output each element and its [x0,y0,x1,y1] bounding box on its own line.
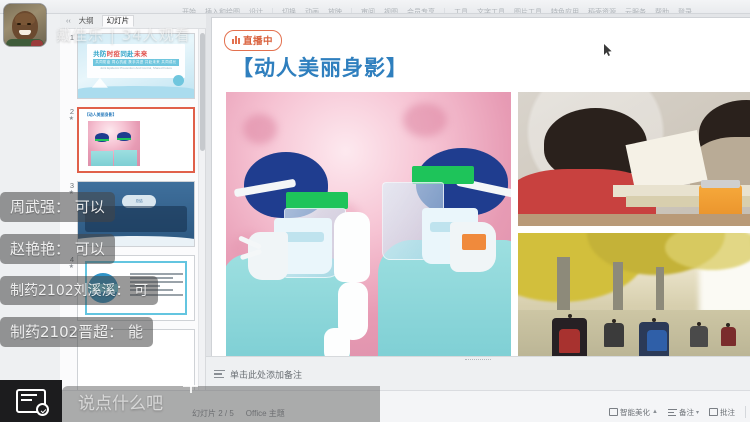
notes-toggle-label: 备注 [679,407,694,418]
thumb-photo-grid [88,121,187,166]
live-bars-icon [232,36,240,44]
crosshair-cursor-icon [183,378,198,393]
ribbon-item[interactable]: 特色应用 [551,7,579,14]
star-icon: ★ [60,116,74,123]
chevron-down-icon[interactable]: ▾ [696,409,699,416]
chat-message: 制药2102刘溪溪： 可 [0,276,158,305]
thumb-content-card: 共防时疫同赴未来 共同防疫 同心抗疫 携手共进 共赴未来 共同成长 Joint … [87,44,184,77]
chat-message-stack: 周武强： 可以 赵艳艳： 可以 制药2102刘溪溪： 可 制药2102晋超： 能 [0,192,230,359]
mouse-pointer-icon [604,44,612,56]
notes-toggle-button[interactable]: 备注 ▾ [668,407,699,418]
list-item[interactable]: 2 ★ 【动人美丽身影】 [60,103,198,177]
thumb-medical-photo [88,121,140,166]
chat-input-placeholder: 说点什么吧 [78,389,163,414]
ribbon-item[interactable]: 图片工具 [514,7,542,14]
live-streaming-screen: 开始 插入和绘图 设计 切换 动画 放映 审阅 视图 会员专享 工具 文字工具 … [0,0,750,422]
ribbon-item[interactable]: 稻壳资源 [588,7,616,14]
comment-button[interactable]: 批注 [709,407,735,418]
thumb-title: 共防时疫同赴未来 [93,48,147,58]
thumb-title: 【动人美丽身影】 [85,112,117,118]
beautify-button[interactable]: 智能美化 ▲ [609,407,658,418]
current-slide[interactable]: 直播中 【动人美丽身影】 [212,18,750,366]
live-badge-label: 直播中 [243,33,273,47]
decorative-circle [173,75,184,86]
chevron-up-icon[interactable]: ▲ [652,409,658,415]
thumb-banner-text: 共同防疫 同心抗疫 携手共进 共赴未来 共同成长 [93,59,179,66]
ribbon-toolbar[interactable]: 开始 插入和绘图 设计 切换 动画 放映 审阅 视图 会员专享 工具 文字工具 … [0,0,750,14]
decorative-shape [92,78,108,88]
decorative-wave [78,86,194,98]
ribbon-item[interactable]: 会员专享 [407,7,435,14]
ribbon-item[interactable]: 审阅 [361,7,375,14]
ribbon-item[interactable]: 登录 [678,7,692,14]
photo-side-column [518,92,750,366]
thumbnail-meta: 2 ★ [60,107,77,123]
photo-main-wrap [226,92,511,366]
comment-icon [709,408,718,416]
webcam-smile [19,30,31,35]
chat-message: 赵艳艳： 可以 [0,234,115,264]
medical-workers-photo[interactable] [226,92,511,362]
slide-thumbnail-2[interactable]: 【动人美丽身影】 [77,107,195,173]
thumb-title-part: 未来 [134,51,148,58]
thumb-title-part: 时疫 [107,51,121,58]
thumb-photo-column [142,121,187,166]
chat-message: 制药2102晋超： 能 [0,317,153,347]
chat-message: 周武强： 可以 [0,192,115,222]
ribbon-item[interactable]: 文字工具 [477,7,505,14]
beautify-label: 智能美化 [620,407,650,418]
presenter-webcam[interactable] [4,4,46,46]
webcam-shirt-accent [31,40,43,46]
page-title: 【动人美丽身影】 [232,52,408,82]
ribbon-tab-row: 开始 插入和绘图 设计 切换 动画 放映 审阅 视图 会员专享 工具 文字工具 … [0,0,750,14]
status-divider [745,406,746,418]
thumb-subtitle: Joint Epidemic Prevention And Control, S… [93,66,179,70]
ribbon-item[interactable]: 切换 [282,7,296,14]
autumn-campus-photo[interactable] [518,233,750,367]
live-watermark: 戴佳乐 | 34人观看 [56,24,191,45]
slide-photo-grid [226,92,750,366]
ribbon-item[interactable]: 工具 [454,7,468,14]
ribbon-item[interactable]: 帮助 [655,7,669,14]
ribbon-item[interactable]: 视图 [384,7,398,14]
thumb-title-part: 共防 [93,51,107,58]
status-bar-right: 智能美化 ▲ 备注 ▾ 批注 [609,406,746,418]
id-card-button[interactable] [0,380,62,422]
ribbon-item[interactable]: 插入和绘图 [205,7,240,14]
ribbon-item[interactable]: 设计 [249,7,263,14]
thumb-banner: 共同防疫 同心抗疫 携手共进 共赴未来 共同成长 [93,59,179,66]
slide-stage: 直播中 【动人美丽身影】 [206,14,750,390]
slide-number: 3 [60,182,74,190]
notes-lines-icon [668,408,677,416]
notes-resize-strip[interactable] [206,357,750,364]
scrollbar-thumb[interactable] [200,33,205,151]
ribbon-item[interactable]: 放映 [328,7,342,14]
ribbon-item[interactable]: 云服务 [625,7,646,14]
students-studying-photo[interactable] [518,92,750,226]
notes-lines-icon [214,370,225,379]
slide-number: 2 [60,108,74,116]
ribbon-item[interactable]: 开始 [182,7,196,14]
status-badge: 直播中 [224,30,282,51]
ribbon-item[interactable]: 动画 [305,7,319,14]
beautify-icon [609,408,618,416]
thumb-title-part: 同赴 [120,51,134,58]
drag-handle[interactable] [465,359,491,362]
id-card-check-icon [16,389,46,413]
comment-label: 批注 [720,407,735,418]
